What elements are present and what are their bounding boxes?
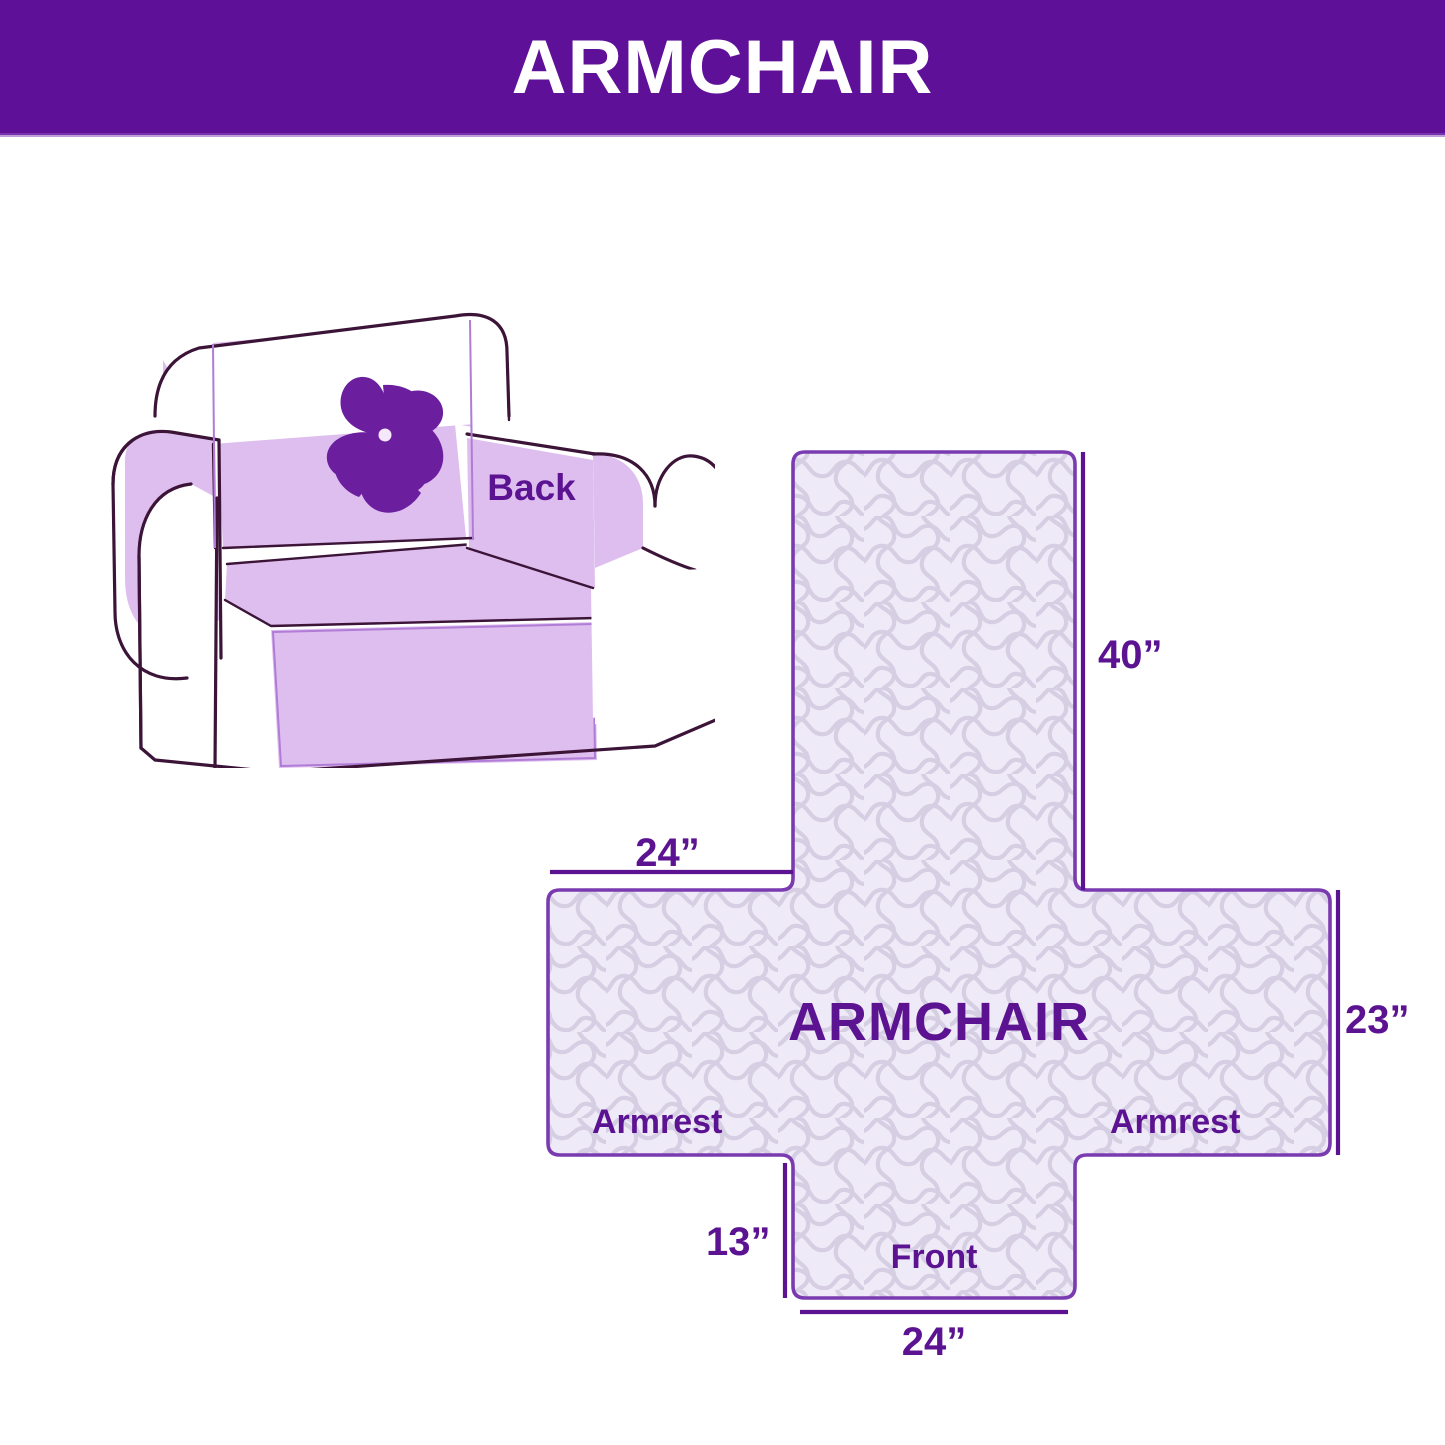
banner-bottom-edge bbox=[0, 133, 1445, 137]
header-banner: ARMCHAIR bbox=[0, 0, 1445, 135]
panel-label-armrest-left: Armrest bbox=[592, 1105, 722, 1139]
dimension-label-back-height: 40” bbox=[1098, 635, 1163, 675]
product-dimension-infographic: ARMCHAIR .ol{fill:none;stroke:#3B1437;st… bbox=[0, 0, 1445, 1445]
page-title: ARMCHAIR bbox=[512, 30, 934, 106]
panel-label-front: Front bbox=[805, 1240, 1063, 1274]
diagram-center-label: ARMCHAIR bbox=[548, 995, 1330, 1049]
panel-label-armrest-right: Armrest bbox=[1110, 1105, 1240, 1139]
cross-outline bbox=[548, 452, 1330, 1298]
armchair-cover-cross-diagram bbox=[520, 430, 1420, 1340]
dimension-label-back-width: 24” bbox=[550, 833, 785, 873]
dimension-label-front-width: 24” bbox=[805, 1322, 1063, 1362]
panel-label-back: Back bbox=[0, 469, 1063, 506]
dimension-label-front-height: 13” bbox=[706, 1222, 771, 1262]
dimension-label-body-height: 23” bbox=[1345, 1000, 1410, 1040]
